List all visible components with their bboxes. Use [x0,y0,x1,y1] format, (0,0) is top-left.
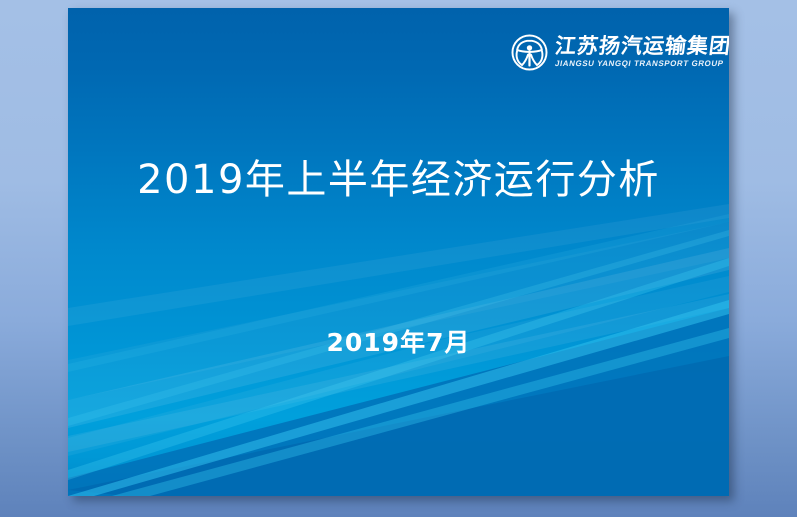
company-name-cn: 江苏扬汽运输集团 [554,36,729,57]
subtitle-placeholder[interactable]: 2019年7月 [68,323,729,359]
presentation-viewer: 江苏扬汽运输集团 JIANGSU YANGQI TRANSPORT GROUP … [0,0,797,517]
slide-title: 2019年上半年经济运行分析 [68,158,729,202]
logo-wordmark: 江苏扬汽运输集团 JIANGSU YANGQI TRANSPORT GROUP [555,36,729,68]
company-name-en: JIANGSU YANGQI TRANSPORT GROUP [554,60,729,68]
slide-subtitle: 2019年7月 [68,323,729,359]
title-placeholder[interactable]: 2019年上半年经济运行分析 [68,158,729,202]
decorative-diagonal-ribbons [68,8,729,496]
company-logo: 江苏扬汽运输集团 JIANGSU YANGQI TRANSPORT GROUP [511,29,711,75]
trefoil-emblem-icon [511,34,548,71]
title-slide[interactable]: 江苏扬汽运输集团 JIANGSU YANGQI TRANSPORT GROUP … [68,8,729,496]
